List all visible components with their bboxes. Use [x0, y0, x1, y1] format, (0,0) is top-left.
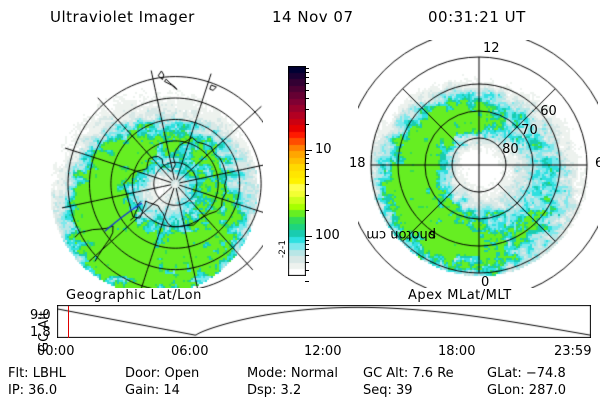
colorbar-minor-tick: [305, 270, 309, 271]
metadata-gain: Gain: 14: [125, 383, 180, 398]
colorbar-major-tick: [305, 150, 312, 151]
colorbar-minor-tick: [305, 83, 309, 84]
colorbar-minor-tick: [305, 184, 309, 185]
time-tick-3: 18:00: [438, 344, 475, 359]
metadata-flt: Flt: LBHL: [8, 366, 66, 381]
mlat-label-80: 80: [502, 142, 519, 157]
header: Ultraviolet Imager 14 Nov 07 00:31:21 UT: [0, 6, 600, 32]
colorbar-minor-tick: [305, 262, 309, 263]
colorbar-minor-tick: [305, 158, 309, 159]
time-tick-2: 12:00: [304, 344, 341, 359]
mlt-label-6: 6: [595, 156, 600, 171]
time-tick-0: 00:00: [37, 344, 74, 359]
instrument-title: Ultraviolet Imager: [50, 8, 195, 26]
colorbar-minor-tick: [305, 163, 309, 164]
metadata-glon: GLon: 287.0: [487, 383, 566, 398]
metadata-glat: GLat: −74.8: [487, 366, 566, 381]
colorbar-minor-tick: [305, 72, 309, 73]
colorbar-minor-tick: [305, 90, 309, 91]
colorbar-tick-label: 100: [315, 229, 340, 242]
colorbar-minor-tick: [305, 281, 309, 282]
mlat-label-60: 60: [540, 104, 557, 119]
colorbar-minor-tick: [305, 195, 309, 196]
apex-panel-caption: Apex MLat/MLT: [408, 288, 512, 303]
colorbar-major-tick: [305, 236, 312, 237]
colorbar-minor-tick: [305, 98, 309, 99]
colorbar-minor-tick: [305, 169, 309, 170]
colorbar-minor-tick: [305, 109, 309, 110]
time-tick-1: 06:00: [171, 344, 208, 359]
uvi-display: Ultraviolet Imager 14 Nov 07 00:31:21 UT…: [0, 0, 600, 400]
colorbar-axis-label: photon cm-2s-1: [262, 100, 282, 260]
observation-time: 00:31:21 UT: [428, 8, 526, 26]
metadata-seq: Seq: 39: [363, 383, 413, 398]
time-cursor[interactable]: [68, 306, 69, 338]
colorbar-tick-label: 10: [315, 143, 332, 156]
metadata-gcalt: GC Alt: 7.6 Re: [363, 366, 454, 381]
altitude-strip-chart[interactable]: [57, 305, 591, 338]
mlt-label-18: 18: [349, 156, 366, 171]
colorbar-minor-tick: [305, 124, 309, 125]
strip-y-tick-low: 1.8: [30, 325, 51, 340]
time-tick-4: 23:59: [554, 344, 591, 359]
geographic-panel-caption: Geographic Lat/Lon: [66, 288, 202, 303]
observation-date: 14 Nov 07: [272, 8, 354, 26]
colorbar-axis: 10010: [305, 60, 351, 285]
mlt-label-0: 0: [481, 275, 489, 290]
metadata-door: Door: Open: [125, 366, 199, 381]
metadata-mode: Mode: Normal: [247, 366, 338, 381]
strip-y-tick-high: 9.0: [30, 308, 51, 323]
metadata-ip: IP: 36.0: [8, 383, 57, 398]
colorbar-minor-tick: [305, 176, 309, 177]
colorbar-minor-tick: [305, 210, 309, 211]
colorbar-minor-tick: [305, 255, 309, 256]
apex-panel: [358, 40, 598, 288]
colorbar-minor-tick: [305, 244, 309, 245]
metadata-dsp: Dsp: 3.2: [247, 383, 301, 398]
colorbar-minor-tick: [305, 68, 309, 69]
colorbar-minor-tick: [305, 240, 309, 241]
colorbar-minor-tick: [305, 249, 309, 250]
mlt-label-12: 12: [483, 41, 500, 56]
colorbar-minor-tick: [305, 154, 309, 155]
colorbar-minor-tick: [305, 77, 309, 78]
mlat-label-70: 70: [521, 123, 538, 138]
geographic-panel: [5, 40, 263, 288]
